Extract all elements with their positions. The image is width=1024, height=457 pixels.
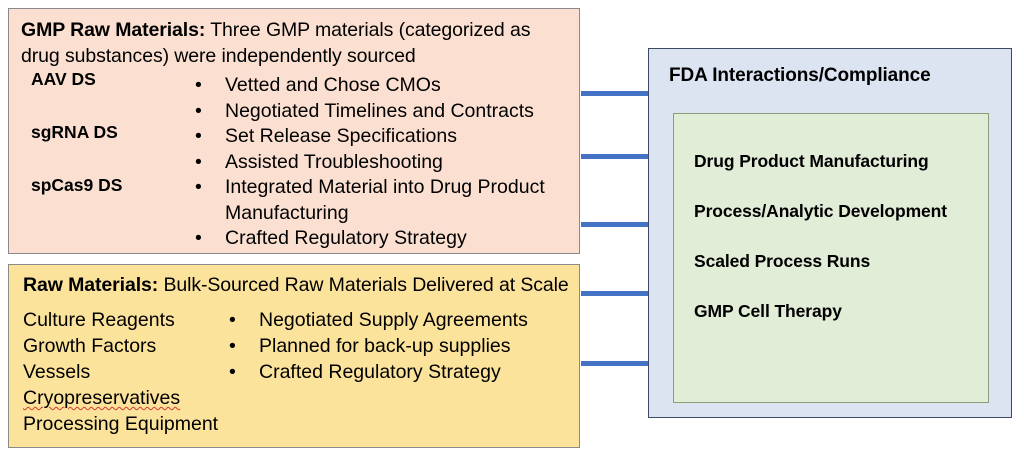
gmp-bullet-list: •Vetted and Chose CMOs •Negotiated Timel…: [187, 73, 577, 252]
raw-bullet-list: •Negotiated Supply Agreements •Planned f…: [221, 307, 571, 385]
bullet-glyph: •: [195, 73, 202, 99]
bullet-glyph: •: [195, 175, 202, 201]
gmp-bullet-item: •Assisted Troubleshooting: [187, 150, 577, 176]
bullet-glyph: •: [229, 359, 236, 385]
raw-material-item: Vessels: [23, 359, 223, 385]
connector-line-5: [581, 361, 648, 366]
gmp-raw-materials-box: GMP Raw Materials: Three GMP materials (…: [8, 8, 580, 254]
raw-material-item: Growth Factors: [23, 333, 223, 359]
gmp-bullet-item: •Integrated Material into Drug Product M…: [187, 175, 577, 226]
bullet-glyph: •: [195, 99, 202, 125]
bullet-glyph: •: [229, 307, 236, 333]
gmp-bullet-item: •Set Release Specifications: [187, 124, 577, 150]
connector-line-3: [581, 222, 648, 227]
bullet-glyph: •: [195, 226, 202, 252]
raw-heading: Raw Materials: Bulk-Sourced Raw Material…: [23, 273, 571, 298]
gmp-bullet-item: •Vetted and Chose CMOs: [187, 73, 577, 99]
diagram-canvas: GMP Raw Materials: Three GMP materials (…: [0, 0, 1024, 457]
raw-materials-box: Raw Materials: Bulk-Sourced Raw Material…: [8, 264, 580, 448]
raw-heading-label: Raw Materials:: [23, 274, 158, 296]
gmp-bullet-text: Assisted Troubleshooting: [225, 151, 443, 173]
gmp-bullet-item: •Crafted Regulatory Strategy: [187, 226, 577, 252]
bullet-glyph: •: [195, 124, 202, 150]
drug-substance-item-sgrna: sgRNA DS: [31, 122, 181, 143]
fda-item-process-analytic-development: Process/Analytic Development: [694, 200, 980, 222]
raw-material-item: Culture Reagents: [23, 307, 223, 333]
raw-bullet-text: Planned for back-up supplies: [259, 335, 511, 357]
bullet-glyph: •: [229, 333, 236, 359]
drug-substance-list: AAV DS sgRNA DS spCas9 DS: [31, 69, 181, 228]
drug-substance-item-spcas9: spCas9 DS: [31, 175, 181, 196]
gmp-bullet-text: Negotiated Timelines and Contracts: [225, 100, 534, 122]
gmp-bullet-text: Crafted Regulatory Strategy: [225, 227, 467, 249]
drug-substance-item-aav: AAV DS: [31, 69, 181, 90]
gmp-heading-label: GMP Raw Materials:: [21, 19, 205, 41]
fda-interactions-compliance-box: FDA Interactions/Compliance Drug Product…: [648, 48, 1012, 418]
bullet-glyph: •: [195, 150, 202, 176]
raw-bullet-item: •Planned for back-up supplies: [221, 333, 571, 359]
raw-materials-list: Culture Reagents Growth Factors Vessels …: [23, 307, 223, 437]
gmp-bullet-item: •Negotiated Timelines and Contracts: [187, 99, 577, 125]
fda-item-gmp-cell-therapy: GMP Cell Therapy: [694, 300, 980, 322]
raw-heading-text: Bulk-Sourced Raw Materials Delivered at …: [158, 274, 569, 296]
fda-item-scaled-process-runs: Scaled Process Runs: [694, 250, 980, 272]
fda-item-drug-product-manufacturing: Drug Product Manufacturing: [694, 150, 980, 172]
connector-line-4: [581, 291, 648, 296]
fda-inner-box: Drug Product Manufacturing Process/Analy…: [673, 113, 989, 403]
raw-bullet-item: •Negotiated Supply Agreements: [221, 307, 571, 333]
connector-line-2: [581, 154, 648, 159]
raw-bullet-text: Crafted Regulatory Strategy: [259, 361, 501, 383]
gmp-heading: GMP Raw Materials: Three GMP materials (…: [21, 17, 569, 69]
raw-material-item: Processing Equipment: [23, 411, 223, 437]
gmp-bullet-text: Integrated Material into Drug Product Ma…: [225, 176, 545, 224]
raw-bullet-item: •Crafted Regulatory Strategy: [221, 359, 571, 385]
raw-material-item-misspelled: Cryopreservatives: [23, 385, 223, 411]
gmp-bullet-text: Vetted and Chose CMOs: [225, 74, 441, 96]
raw-bullet-text: Negotiated Supply Agreements: [259, 309, 528, 331]
connector-line-1: [581, 91, 648, 96]
fda-item-list: Drug Product Manufacturing Process/Analy…: [694, 150, 980, 350]
gmp-bullet-text: Set Release Specifications: [225, 125, 457, 147]
fda-heading: FDA Interactions/Compliance: [669, 65, 931, 87]
